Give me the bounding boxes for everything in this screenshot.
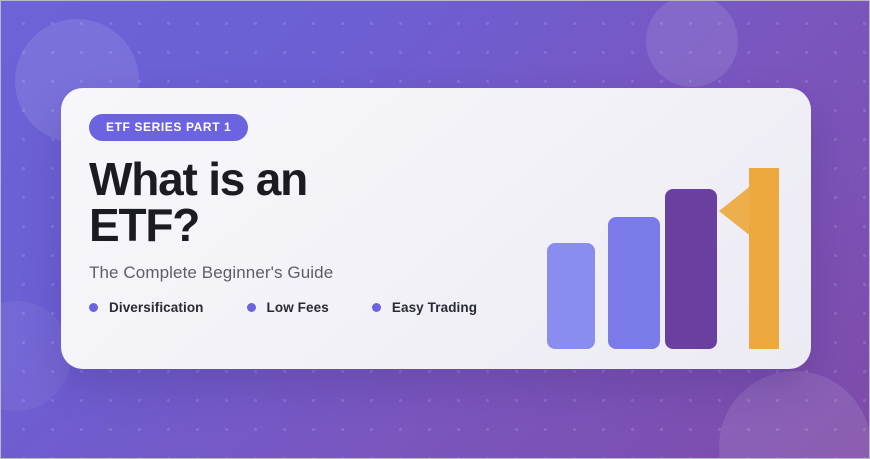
poster-canvas: ETF SERIES PART 1 What is an ETF? The Co…	[0, 0, 870, 459]
chart-bar-3	[665, 189, 717, 349]
feature-item-low-fees: Low Fees	[247, 300, 329, 315]
card-text-column: ETF SERIES PART 1 What is an ETF? The Co…	[89, 114, 549, 315]
decorative-circle-bottom-right	[719, 371, 870, 459]
chart-bar-1	[547, 243, 595, 349]
chart-bar-2	[608, 217, 660, 349]
bullet-dot-icon	[247, 303, 256, 312]
feature-label: Easy Trading	[392, 300, 477, 315]
series-badge: ETF SERIES PART 1	[89, 114, 248, 141]
growth-arrow-icon	[719, 168, 789, 349]
bar-chart-illustration	[547, 114, 792, 349]
bullet-dot-icon	[89, 303, 98, 312]
content-card: ETF SERIES PART 1 What is an ETF? The Co…	[61, 88, 811, 369]
feature-label: Diversification	[109, 300, 204, 315]
page-title-line-2: ETF?	[89, 203, 549, 249]
page-title: What is an ETF?	[89, 157, 549, 248]
feature-item-diversification: Diversification	[89, 300, 204, 315]
bullet-dot-icon	[372, 303, 381, 312]
page-title-line-1: What is an	[89, 157, 549, 203]
feature-item-easy-trading: Easy Trading	[372, 300, 477, 315]
feature-list: Diversification Low Fees Easy Trading	[89, 300, 549, 315]
decorative-circle-top-right	[646, 0, 738, 87]
page-subtitle: The Complete Beginner's Guide	[89, 263, 549, 283]
feature-label: Low Fees	[267, 300, 329, 315]
